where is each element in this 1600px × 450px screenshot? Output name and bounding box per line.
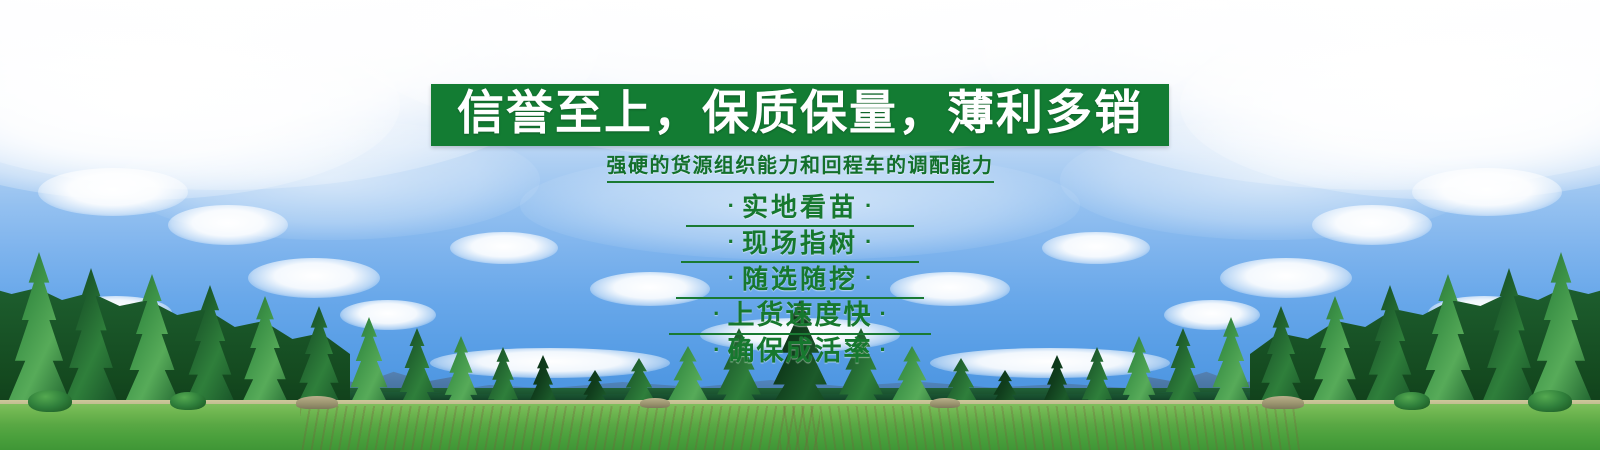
headline-bar: 信誉至上，保质保量，薄利多销 — [431, 84, 1169, 146]
bullet-dot-icon: · — [706, 339, 727, 361]
feature-item[interactable]: · 实地看苗 · — [686, 191, 914, 227]
bush — [1394, 392, 1430, 410]
rock — [1262, 396, 1304, 409]
feature-label: 现场指树 — [742, 228, 858, 259]
crop-rows — [780, 406, 1300, 450]
bullet-dot-icon: · — [858, 195, 879, 217]
feature-item[interactable]: · 现场指树 · — [681, 227, 919, 263]
bullet-dot-icon: · — [858, 231, 879, 253]
bullet-dot-icon: · — [706, 303, 727, 325]
bullet-dot-icon: · — [721, 195, 742, 217]
bullet-dot-icon: · — [858, 267, 879, 289]
bush — [170, 392, 206, 410]
feature-label: 随选随挖 — [742, 264, 858, 295]
crop-rows — [300, 406, 820, 450]
rock — [296, 396, 338, 409]
bullet-dot-icon: · — [721, 231, 742, 253]
headline-text: 信誉至上，保质保量，薄利多销 — [457, 89, 1143, 137]
feature-label: 上货速度快 — [728, 300, 873, 331]
subheadline-text: 强硬的货源组织能力和回程车的调配能力 — [607, 153, 994, 183]
bullet-dot-icon: · — [873, 303, 894, 325]
rock — [640, 398, 670, 408]
promotional-banner: 信誉至上，保质保量，薄利多销 强硬的货源组织能力和回程车的调配能力 · 实地看苗… — [0, 0, 1600, 450]
feature-list: · 实地看苗 · · 现场指树 · · 随选随挖 · · 上货速度快 · · — [664, 191, 936, 369]
bullet-dot-icon: · — [721, 267, 742, 289]
feature-label: 实地看苗 — [742, 192, 858, 223]
rock — [930, 398, 960, 408]
feature-item[interactable]: · 上货速度快 · — [669, 299, 931, 335]
bush — [28, 390, 72, 412]
feature-label: 确保成活率 — [728, 336, 873, 367]
bullet-dot-icon: · — [873, 339, 894, 361]
feature-item[interactable]: · 随选随挖 · — [676, 263, 924, 299]
feature-item[interactable]: · 确保成活率 · — [664, 335, 936, 369]
bush — [1528, 390, 1572, 412]
